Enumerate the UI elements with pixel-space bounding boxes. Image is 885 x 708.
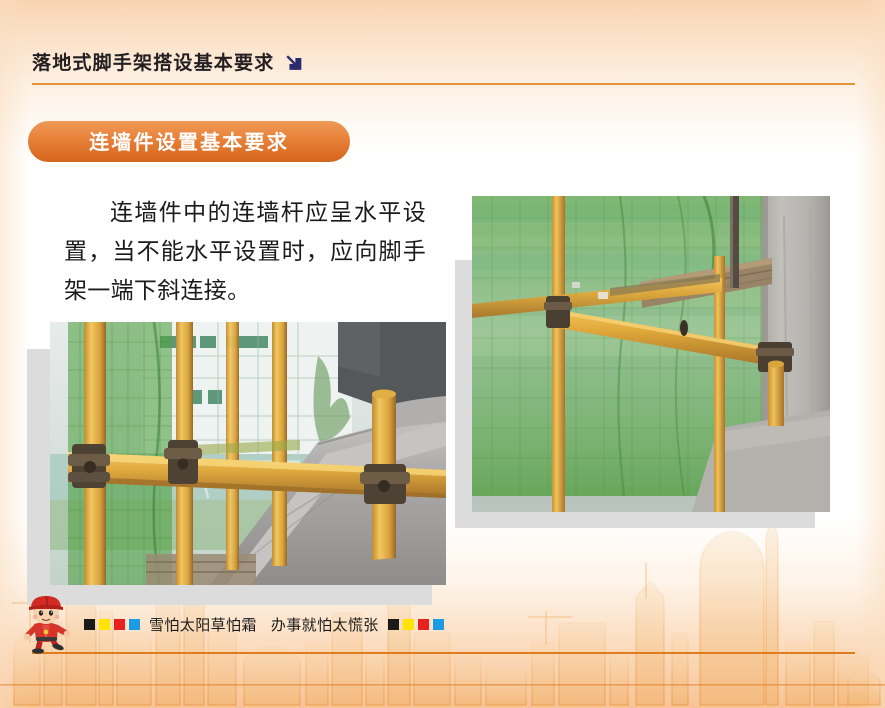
marker-square-blue: [129, 619, 140, 630]
slide-root: 落地式脚手架搭设基本要求 连墙件设置基本要求 连墙件中的连墙杆应呈水平设置，当不…: [0, 0, 885, 708]
marker-square-red-2: [418, 619, 429, 630]
page-title: 落地式脚手架搭设基本要求: [32, 54, 274, 73]
construction-worker-mascot-icon: [16, 594, 78, 654]
marker-square-red: [114, 619, 125, 630]
footer-slogan-right: 办事就怕太慌张: [271, 614, 379, 635]
header-divider: [32, 83, 855, 85]
marker-square-yellow-2: [403, 619, 414, 630]
footer-text-row: 雪怕太阳草怕霜 办事就怕太慌张: [84, 614, 444, 635]
marker-square-yellow: [99, 619, 110, 630]
arrow-down-right-icon: [283, 52, 305, 74]
footer-slogan-bar: 雪怕太阳草怕霜 办事就怕太慌张: [16, 594, 456, 654]
background-right-fade: [855, 0, 885, 708]
footer-slogan-left: 雪怕太阳草怕霜: [149, 614, 257, 635]
marker-square-blue-2: [433, 619, 444, 630]
body-paragraph: 连墙件中的连墙杆应呈水平设置，当不能水平设置时，应向脚手架一端下斜连接。: [64, 194, 426, 311]
section-badge: 连墙件设置基本要求: [28, 121, 350, 162]
photo-top-right: [472, 196, 830, 512]
section-badge-label: 连墙件设置基本要求: [89, 132, 289, 152]
marker-square-black-2: [388, 619, 399, 630]
photo-bottom-left: [50, 322, 446, 585]
marker-square-black: [84, 619, 95, 630]
page-header: 落地式脚手架搭设基本要求: [32, 52, 305, 74]
